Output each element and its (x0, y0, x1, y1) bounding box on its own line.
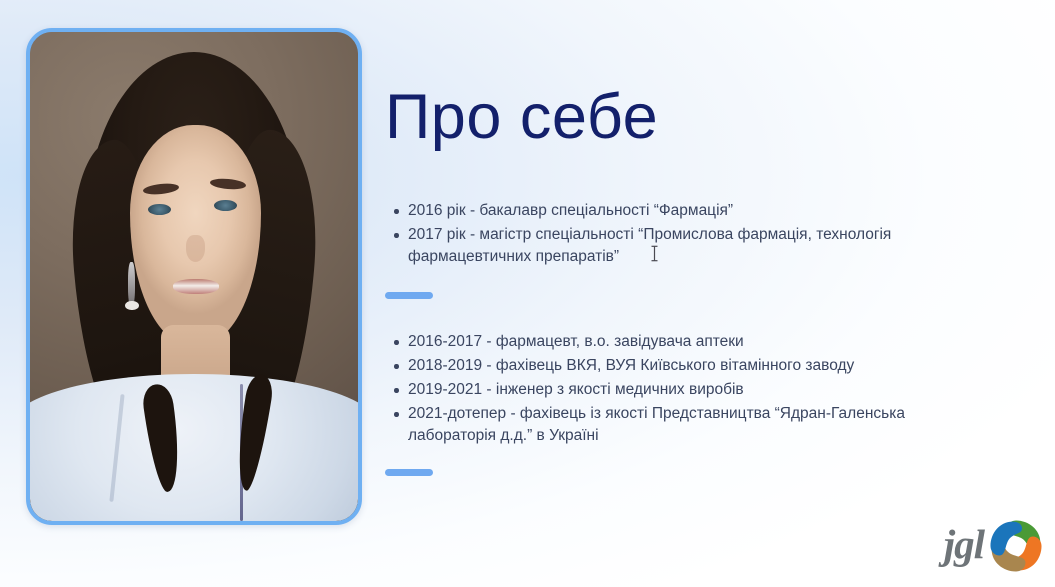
list-item: 2019-2021 - інженер з якості медичних ви… (387, 379, 972, 401)
page-title: Про себе (385, 84, 658, 150)
photo-earring (128, 262, 135, 306)
slide-content: Про себе 2016 рік - бакалавр спеціальнос… (385, 0, 1045, 587)
list-item: 2021-дотепер - фахівець із якості Предст… (387, 403, 972, 447)
photo-nose (186, 235, 206, 262)
education-list: 2016 рік - бакалавр спеціальності “Фарма… (387, 200, 972, 268)
photo-mouth (173, 279, 219, 294)
jgl-pinwheel-icon (987, 517, 1045, 575)
section-divider (385, 469, 433, 476)
photo-shirt (30, 374, 358, 521)
jgl-wordmark: jgl (944, 524, 984, 569)
presentation-slide: Про себе 2016 рік - бакалавр спеціальнос… (0, 0, 1055, 587)
list-item: 2016-2017 - фармацевт, в.о. завідувача а… (387, 331, 972, 353)
portrait-photo-image (30, 32, 358, 521)
portrait-photo (26, 28, 362, 525)
experience-list: 2016-2017 - фармацевт, в.о. завідувача а… (387, 331, 972, 447)
list-item: 2016 рік - бакалавр спеціальності “Фарма… (387, 200, 972, 222)
jgl-logo: jgl (944, 517, 1045, 575)
section-divider (385, 292, 433, 299)
list-item: 2018-2019 - фахівець ВКЯ, ВУЯ Київського… (387, 355, 972, 377)
list-item: 2017 рік - магістр спеціальності “Промис… (387, 224, 972, 268)
